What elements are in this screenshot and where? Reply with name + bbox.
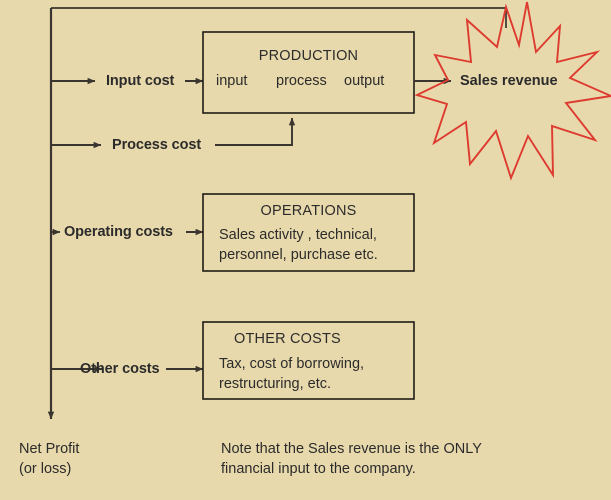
label-input-cost: Input cost	[106, 72, 174, 91]
net-profit-line-2: (or loss)	[19, 460, 71, 479]
label-process-cost: Process cost	[112, 136, 201, 155]
production-box-title: PRODUCTION	[203, 47, 414, 66]
operations-box-title: OPERATIONS	[203, 202, 414, 221]
operations-box-line-1: Sales activity , technical,	[219, 226, 377, 245]
other-costs-box-title: OTHER COSTS	[234, 330, 341, 349]
note-line-2: financial input to the company.	[221, 460, 416, 479]
sales-revenue-label: Sales revenue	[460, 72, 558, 91]
note-line-1: Note that the Sales revenue is the ONLY	[221, 440, 482, 459]
arrow-process-cost-to-production	[215, 118, 292, 145]
label-operating-costs: Operating costs	[64, 223, 173, 242]
net-profit-line-1: Net Profit	[19, 440, 79, 459]
label-other-costs: Other costs	[80, 360, 159, 379]
production-column-input: input	[216, 72, 247, 91]
revenue-return-path	[51, 8, 506, 28]
diagram-canvas: Input cost Process cost Operating costs …	[0, 0, 611, 500]
production-column-process: process	[276, 72, 327, 91]
production-column-output: output	[344, 72, 384, 91]
other-costs-box-line-1: Tax, cost of borrowing,	[219, 355, 364, 374]
operations-box-line-2: personnel, purchase etc.	[219, 246, 378, 265]
other-costs-box-line-2: restructuring, etc.	[219, 375, 331, 394]
